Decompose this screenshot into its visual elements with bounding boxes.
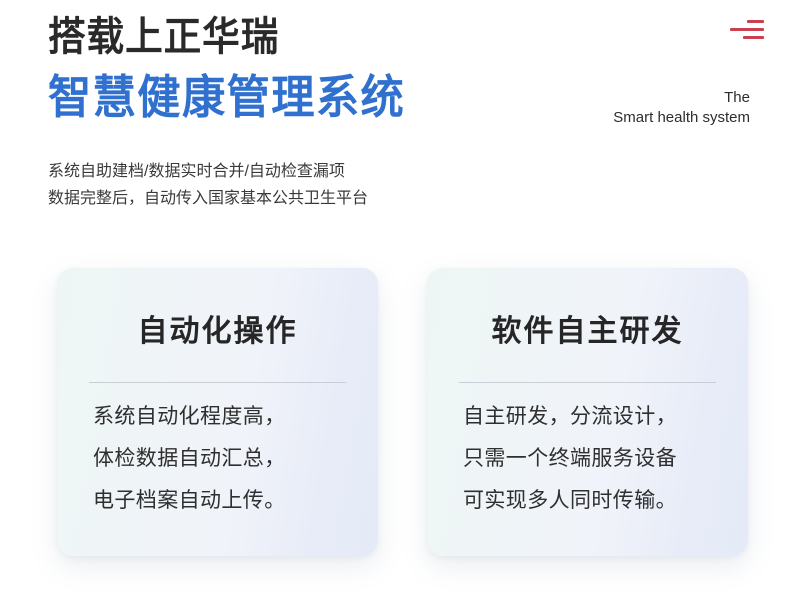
english-tagline: The Smart health system xyxy=(613,88,750,128)
headline-group: 搭载上正华瑞 智慧健康管理系统 xyxy=(48,12,428,126)
three-bars-mark-icon xyxy=(730,18,764,44)
feature-card-title: 自动化操作 xyxy=(57,315,378,349)
feature-card-divider xyxy=(459,382,716,383)
feature-card-automation: 自动化操作 系统自动化程度高， 体检数据自动汇总， 电子档案自动上传。 xyxy=(57,268,378,556)
feature-card-body-line: 体检数据自动汇总， xyxy=(93,438,358,480)
feature-card-divider xyxy=(89,382,346,383)
three-bars-mark-bar-bottom xyxy=(743,36,764,39)
description-line-2: 数据完整后，自动传入国家基本公共卫生平台 xyxy=(48,185,368,212)
feature-card-list: 自动化操作 系统自动化程度高， 体检数据自动汇总， 电子档案自动上传。 软件自主… xyxy=(57,268,748,556)
feature-card-body-line: 系统自动化程度高， xyxy=(93,396,358,438)
three-bars-mark-bar-middle xyxy=(730,28,764,31)
feature-card-body-line: 可实现多人同时传输。 xyxy=(463,480,728,522)
feature-card-body-line: 自主研发，分流设计， xyxy=(463,396,728,438)
feature-card-body-line: 只需一个终端服务设备 xyxy=(463,438,728,480)
feature-card-body-line: 电子档案自动上传。 xyxy=(93,480,358,522)
tagline-line-2: Smart health system xyxy=(613,108,750,128)
feature-card-self-developed: 软件自主研发 自主研发，分流设计， 只需一个终端服务设备 可实现多人同时传输。 xyxy=(427,268,748,556)
three-bars-mark-bar-top xyxy=(747,20,764,23)
feature-card-body: 自主研发，分流设计， 只需一个终端服务设备 可实现多人同时传输。 xyxy=(463,396,728,522)
description-block: 系统自助建档/数据实时合并/自动检查漏项 数据完整后，自动传入国家基本公共卫生平… xyxy=(48,158,368,212)
headline-secondary: 智慧健康管理系统 xyxy=(48,68,405,126)
description-line-1: 系统自助建档/数据实时合并/自动检查漏项 xyxy=(48,158,368,185)
feature-card-title: 软件自主研发 xyxy=(427,315,748,349)
promo-banner: 搭载上正华瑞 智慧健康管理系统 The Smart health system … xyxy=(0,0,800,594)
headline-primary: 搭载上正华瑞 xyxy=(48,12,405,62)
feature-card-body: 系统自动化程度高， 体检数据自动汇总， 电子档案自动上传。 xyxy=(93,396,358,522)
tagline-line-1: The xyxy=(613,88,750,108)
